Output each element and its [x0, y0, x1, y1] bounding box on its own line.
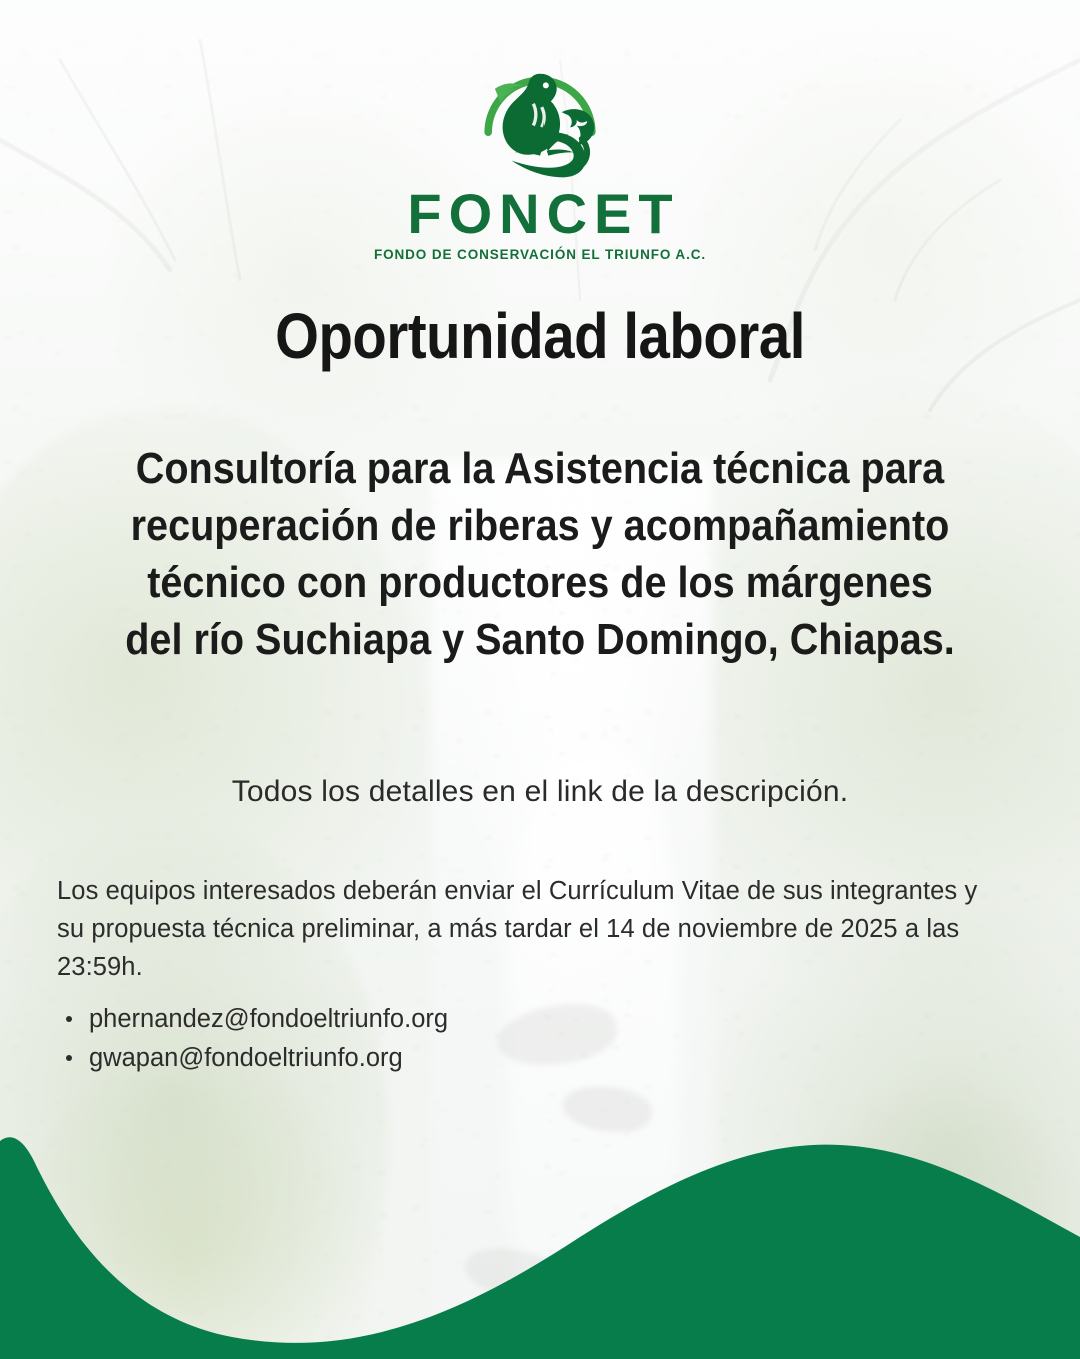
bullet-icon — [66, 1055, 72, 1061]
bullet-icon — [66, 1016, 72, 1022]
logo-wordmark: FONCET — [400, 186, 679, 242]
job-opportunity-poster: FONCET FONDO DE CONSERVACIÓN EL TRIUNFO … — [0, 0, 1080, 1359]
contact-email-list: phernandez@fondoeltriunfo.org gwapan@fon… — [57, 1000, 448, 1078]
foncet-logo: FONCET FONDO DE CONSERVACIÓN EL TRIUNFO … — [0, 52, 1080, 262]
page-title: Oportunidad laboral — [65, 303, 1015, 370]
logo-tagline: FONDO DE CONSERVACIÓN EL TRIUNFO A.C. — [374, 247, 706, 262]
subtitle-line: técnico con productores de los márgenes — [108, 554, 972, 611]
contact-email[interactable]: gwapan@fondoeltriunfo.org — [89, 1044, 403, 1072]
subtitle-line: del río Suchiapa y Santo Domingo, Chiapa… — [108, 611, 972, 668]
list-item[interactable]: phernandez@fondoeltriunfo.org — [57, 1000, 448, 1039]
subtitle-line: recuperación de riberas y acompañamiento — [108, 497, 972, 554]
subtitle-line: Consultoría para la Asistencia técnica p… — [108, 440, 972, 497]
bottom-green-wave — [0, 1119, 1080, 1359]
details-note: Todos los detalles en el link de la desc… — [0, 775, 1080, 809]
body-paragraph: Los equipos interesados deberán enviar e… — [57, 872, 987, 986]
quetzal-bird-logo-icon — [456, 52, 624, 184]
job-title-subtitle: Consultoría para la Asistencia técnica p… — [108, 440, 972, 668]
list-item[interactable]: gwapan@fondoeltriunfo.org — [57, 1039, 448, 1078]
contact-email[interactable]: phernandez@fondoeltriunfo.org — [89, 1005, 448, 1033]
